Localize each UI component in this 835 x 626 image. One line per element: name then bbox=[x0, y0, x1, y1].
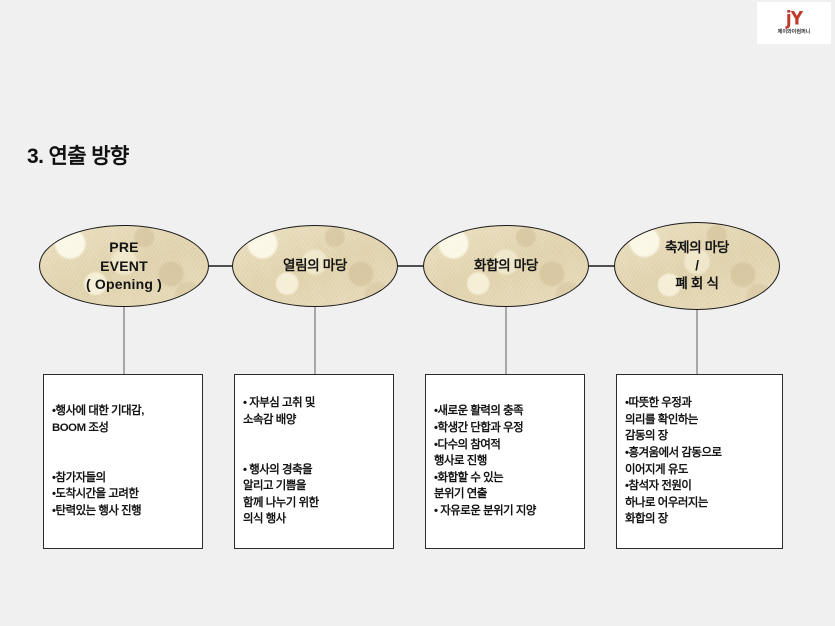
slide-canvas: jY 제이와이컴퍼니 3. 연출 방향 PRE EVE bbox=[0, 0, 835, 626]
flow-node-label: 열림의 마당 bbox=[277, 257, 353, 275]
detail-box-pre-event[interactable]: •행사에 대한 기대감, BOOM 조성 •참가자들의 •도착시간을 고려한 •… bbox=[43, 374, 203, 549]
flow-node-label: 축제의 마당 / 폐 회 식 bbox=[659, 239, 735, 292]
detail-box-yeollim[interactable]: • 자부심 고취 및 소속감 배양 • 행사의 경축을 알리고 기쁨을 함께 나… bbox=[234, 374, 394, 549]
company-logo: jY 제이와이컴퍼니 bbox=[757, 2, 831, 44]
logo-wordmark: jY bbox=[786, 10, 802, 29]
detail-box-hwahap[interactable]: •새로운 활력의 충족 •학생간 단합과 우정 •다수의 참여적 행사로 진행 … bbox=[425, 374, 585, 549]
flow-node-pre-event[interactable]: PRE EVENT ( Opening ) bbox=[39, 225, 209, 307]
flow-node-yeollim[interactable]: 열림의 마당 bbox=[232, 225, 398, 307]
detail-box-text: • 자부심 고취 및 소속감 배양 • 행사의 경축을 알리고 기쁨을 함께 나… bbox=[243, 395, 385, 528]
detail-box-text: •새로운 활력의 충족 •학생간 단합과 우정 •다수의 참여적 행사로 진행 … bbox=[434, 403, 576, 519]
flow-node-chukje[interactable]: 축제의 마당 / 폐 회 식 bbox=[614, 222, 780, 310]
page-title: 3. 연출 방향 bbox=[27, 140, 129, 170]
detail-box-chukje[interactable]: •따뜻한 우정과 의리를 확인하는 감동의 장 •흥겨움에서 감동으로 이어지게… bbox=[616, 374, 783, 549]
flow-node-hwahap[interactable]: 화합의 마당 bbox=[423, 225, 589, 307]
logo-subtitle: 제이와이컴퍼니 bbox=[778, 30, 811, 35]
flow-node-label: PRE EVENT ( Opening ) bbox=[80, 238, 168, 294]
detail-box-text: •따뜻한 우정과 의리를 확인하는 감동의 장 •흥겨움에서 감동으로 이어지게… bbox=[625, 395, 774, 528]
flow-node-label: 화합의 마당 bbox=[468, 257, 544, 275]
detail-box-text: •행사에 대한 기대감, BOOM 조성 •참가자들의 •도착시간을 고려한 •… bbox=[52, 403, 194, 519]
